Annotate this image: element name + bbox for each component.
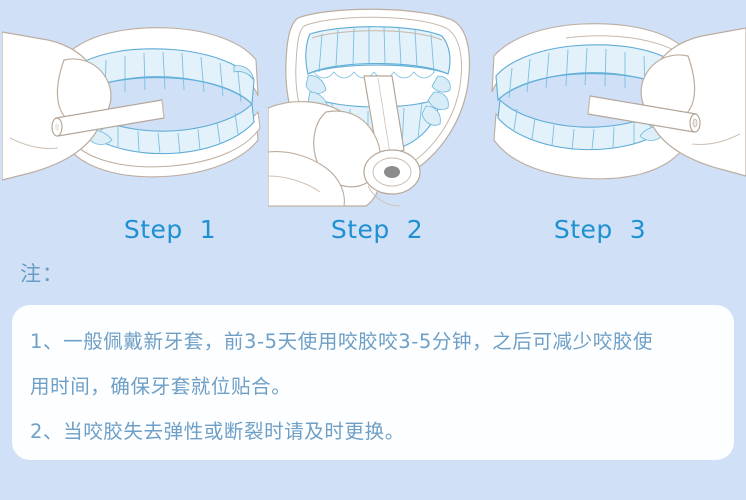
note-box: 1、一般佩戴新牙套，前3-5天使用咬胶咬3-5分钟，之后可减少咬胶使 用时间，确… <box>12 305 734 460</box>
note-line-3: 2、当咬胶失去弹性或断裂时请及时更换。 <box>30 409 716 454</box>
instruction-page: Step 1 Step 2 Step 3 注： 1、一般佩戴新牙套，前3-5天使… <box>0 0 746 500</box>
note-line-1: 1、一般佩戴新牙套，前3-5天使用咬胶咬3-5分钟，之后可减少咬胶使 <box>30 319 716 364</box>
step-label-row: Step 1 Step 2 Step 3 <box>0 214 746 258</box>
step-label-1: Step 1 <box>80 214 260 246</box>
illustration-strip <box>0 0 746 212</box>
step-2-illustration <box>268 0 486 212</box>
step-label-3: Step 3 <box>510 214 690 246</box>
step-label-2: Step 2 <box>287 214 467 246</box>
step-3-illustration <box>486 0 746 212</box>
note-line-2: 用时间，确保牙套就位贴合。 <box>30 364 716 409</box>
note-heading: 注： <box>20 260 64 288</box>
step-1-illustration <box>2 0 264 212</box>
